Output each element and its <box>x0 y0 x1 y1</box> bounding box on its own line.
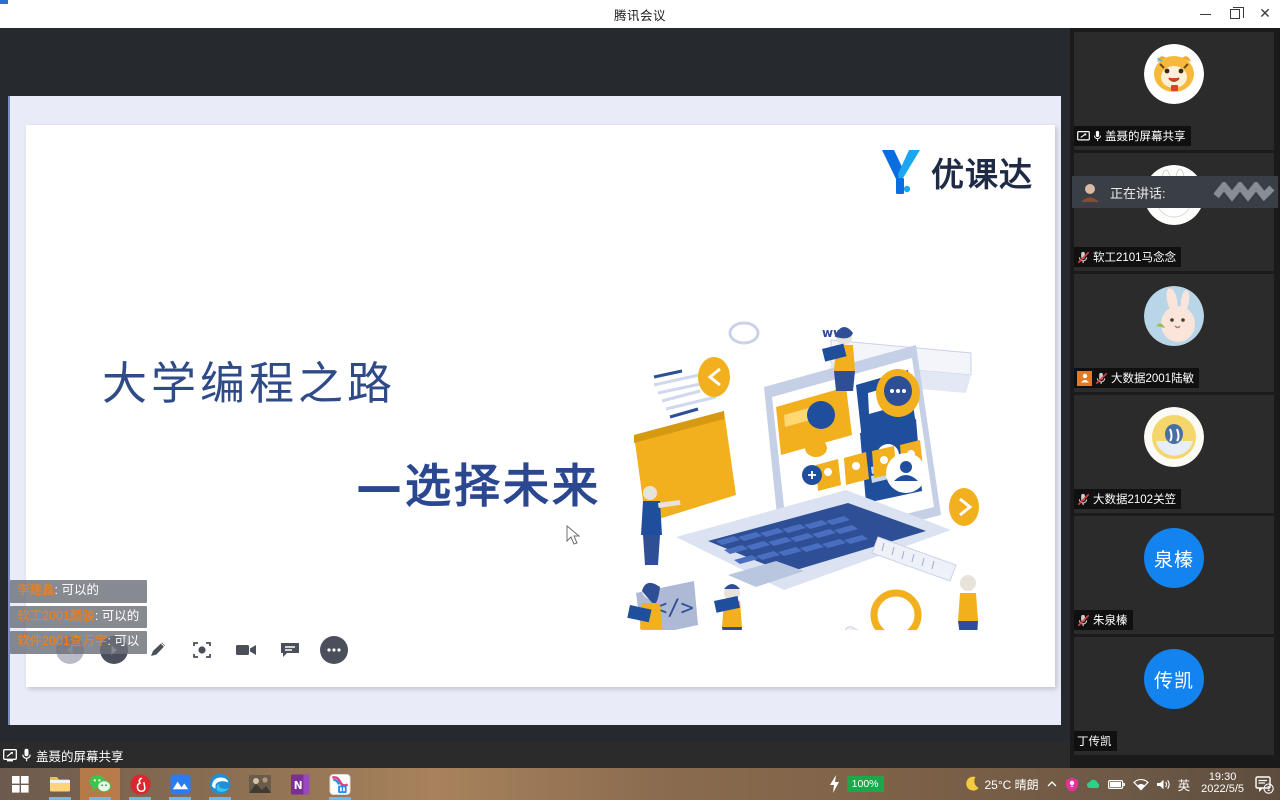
chat-overlay: 李建鑫: 可以的 软工2001颜骏: 可以的 软件2001查万宇: 可以 <box>10 580 147 654</box>
microphone-muted-icon <box>1095 372 1108 385</box>
titlebar-accent <box>0 0 8 4</box>
chevron-up-icon[interactable] <box>1046 778 1058 790</box>
moon-icon <box>964 776 980 792</box>
participant-tile[interactable]: 泉榛 朱泉榛 <box>1074 516 1274 634</box>
participant-name: 大数据2001陆敏 <box>1111 370 1194 386</box>
mouse-cursor-icon <box>566 525 580 545</box>
chat-sender: 软件2001查万宇 <box>17 634 107 648</box>
windows-start-icon <box>12 776 29 793</box>
cloud-sync-icon[interactable] <box>1086 778 1101 790</box>
clock[interactable]: 19:30 2022/5/5 <box>1201 772 1244 795</box>
brand-logo-text: 优课达 <box>931 148 1033 196</box>
window-titlebar: 腾讯会议 ✕ <box>0 0 1280 28</box>
netease-music-icon <box>130 774 151 795</box>
avatar <box>1144 407 1204 467</box>
taskbar-item-microsoft-edge[interactable] <box>200 768 240 800</box>
chat-message: 软件2001查万宇: 可以 <box>10 631 147 654</box>
participant-tile[interactable]: 大数据2102关笠 <box>1074 395 1274 513</box>
wifi-icon[interactable] <box>1133 778 1149 791</box>
microphone-muted-icon <box>1077 251 1090 264</box>
chat-colon: : <box>95 609 102 623</box>
avatar-wrap <box>1074 407 1274 467</box>
participant-namebar: 丁传凯 <box>1074 731 1117 751</box>
chat-text: 可以的 <box>61 583 99 597</box>
svg-text:ww: ww <box>822 326 844 340</box>
window-title: 腾讯会议 <box>614 5 666 24</box>
speaker-avatar-icon <box>1079 181 1101 203</box>
edge-icon <box>209 773 231 795</box>
participant-name: 软工2101马念念 <box>1093 249 1176 265</box>
bunny-photo-icon <box>1144 286 1204 346</box>
tiger-sticker-icon <box>1144 44 1204 104</box>
participant-name: 朱泉榛 <box>1093 612 1128 628</box>
avatar-wrap: 泉榛 <box>1074 528 1274 588</box>
slide-heading: 大学编程之路 <box>102 347 396 412</box>
speech-bubble-icon <box>279 641 301 659</box>
avatar-wrap: 传凯 <box>1074 649 1274 709</box>
y-logo-icon <box>879 147 923 197</box>
participant-tile[interactable]: 传凯 丁传凯 <box>1074 637 1274 755</box>
taskbar-items: N <box>0 768 360 800</box>
chat-message: 软工2001颜骏: 可以的 <box>10 606 147 629</box>
weather-widget[interactable]: 25°C 晴朗 <box>964 776 1039 793</box>
clock-date: 2022/5/5 <box>1201 784 1244 796</box>
host-badge <box>1077 371 1092 386</box>
slide-canvas: 优课达 大学编程之路 —选择未来 <box>26 125 1055 687</box>
annotate-button[interactable] <box>144 636 172 664</box>
chat-message: 李建鑫: 可以的 <box>10 580 147 603</box>
pencil-icon <box>148 640 168 660</box>
video-camera-icon <box>235 641 257 659</box>
microphone-icon <box>1093 130 1102 142</box>
slide-subheading: —选择未来 <box>356 450 601 516</box>
participants-panel: 盖聂的屏幕共享 <box>1070 28 1280 768</box>
microphone-muted-icon <box>1077 614 1090 627</box>
chat-sender: 软工2001颜骏 <box>17 609 95 623</box>
participant-name: 丁传凯 <box>1077 733 1112 749</box>
battery-percent: 100% <box>847 776 884 792</box>
brand-logo: 优课达 <box>879 147 1033 197</box>
avatar <box>1144 286 1204 346</box>
participant-namebar: 大数据2102关笠 <box>1074 489 1181 509</box>
participant-namebar: 朱泉榛 <box>1074 610 1133 630</box>
minimize-button[interactable] <box>1190 0 1220 28</box>
microphone-muted-icon <box>1077 493 1090 506</box>
participant-tile[interactable]: 盖聂的屏幕共享 <box>1074 32 1274 150</box>
ellipsis-icon <box>326 647 342 653</box>
taskbar-item-photo-app[interactable] <box>240 768 280 800</box>
window-controls: ✕ <box>1190 0 1280 28</box>
photo-thumbnail-icon <box>249 775 271 793</box>
screen-share-status-bar: 盖聂的屏幕共享 <box>0 742 1070 768</box>
participant-tile[interactable]: 软工2101马念念 <box>1074 153 1274 271</box>
participant-namebar: 盖聂的屏幕共享 <box>1074 126 1191 146</box>
svg-text:1: 1 <box>1267 785 1271 793</box>
battery-icon[interactable] <box>1108 779 1126 790</box>
onenote-icon: N <box>290 774 310 795</box>
microphone-icon <box>21 748 32 762</box>
active-speaker-label: 正在讲话: <box>1110 183 1166 202</box>
folder-icon <box>49 774 71 794</box>
avatar <box>1144 44 1204 104</box>
camera-button[interactable] <box>232 636 260 664</box>
taskbar-item-tencent-meeting[interactable] <box>320 768 360 800</box>
participant-tile[interactable]: 大数据2001陆敏 <box>1074 274 1274 392</box>
maximize-button[interactable] <box>1220 0 1250 28</box>
powerpoint-window: 优课达 大学编程之路 —选择未来 <box>8 96 1061 725</box>
screen-share-label: 盖聂的屏幕共享 <box>36 746 124 765</box>
moon-sticker-icon <box>1144 407 1204 467</box>
windows-taskbar: N 100% <box>0 768 1280 800</box>
chat-text: 可以的 <box>102 609 140 623</box>
taskbar-item-netease-music[interactable] <box>120 768 160 800</box>
start-button[interactable] <box>0 768 40 800</box>
taskbar-item-onenote[interactable]: N <box>280 768 320 800</box>
more-button[interactable] <box>320 636 348 664</box>
screen-share-icon <box>3 749 17 762</box>
security-icon[interactable] <box>1065 777 1079 792</box>
tencent-meeting-icon <box>329 774 351 795</box>
taskbar-item-wechat[interactable] <box>80 768 120 800</box>
programming-illustration: </> ww <box>616 315 996 665</box>
person-icon <box>1080 373 1090 383</box>
svg-text:N: N <box>294 779 303 791</box>
ppt-control-toolbar[interactable] <box>42 630 1055 670</box>
chat-text: 可以 <box>114 634 139 648</box>
participant-name: 大数据2102关笠 <box>1093 491 1176 507</box>
avatar-wrap <box>1074 286 1274 346</box>
wechat-icon <box>89 774 111 794</box>
focus-frame-icon <box>192 640 212 660</box>
tencent-meeting-window: 腾讯会议 ✕ 优课达 大学编程之路 <box>0 0 1280 800</box>
volume-icon[interactable] <box>1156 778 1171 791</box>
shared-screen-area: 优课达 大学编程之路 —选择未来 <box>0 28 1070 742</box>
weather-text: 25°C 晴朗 <box>985 776 1039 793</box>
taskbar-item-mountain-app[interactable] <box>160 768 200 800</box>
battery-charging-icon <box>829 775 840 793</box>
notification-icon[interactable]: 1 <box>1255 775 1274 794</box>
participant-name: 盖聂的屏幕共享 <box>1105 128 1186 144</box>
screen-share-icon <box>1077 131 1090 142</box>
active-speaker-banner: 正在讲话: <box>1072 176 1278 208</box>
battery-indicator[interactable]: 100% <box>847 776 884 792</box>
participant-namebar: 软工2101马念念 <box>1074 247 1181 267</box>
chat-button[interactable] <box>276 636 304 664</box>
audio-wave-icon <box>1214 182 1276 202</box>
close-button[interactable]: ✕ <box>1250 0 1280 28</box>
system-tray: 100% 25°C 晴朗 <box>829 768 1280 800</box>
ime-indicator[interactable]: 英 <box>1178 775 1191 794</box>
avatar-initial: 泉榛 <box>1144 528 1204 588</box>
focus-button[interactable] <box>188 636 216 664</box>
avatar-wrap <box>1074 44 1274 104</box>
blue-mountain-icon <box>170 774 191 795</box>
taskbar-item-file-explorer[interactable] <box>40 768 80 800</box>
chat-sender: 李建鑫 <box>17 583 55 597</box>
participant-namebar: 大数据2001陆敏 <box>1074 368 1199 388</box>
avatar-initial: 传凯 <box>1144 649 1204 709</box>
